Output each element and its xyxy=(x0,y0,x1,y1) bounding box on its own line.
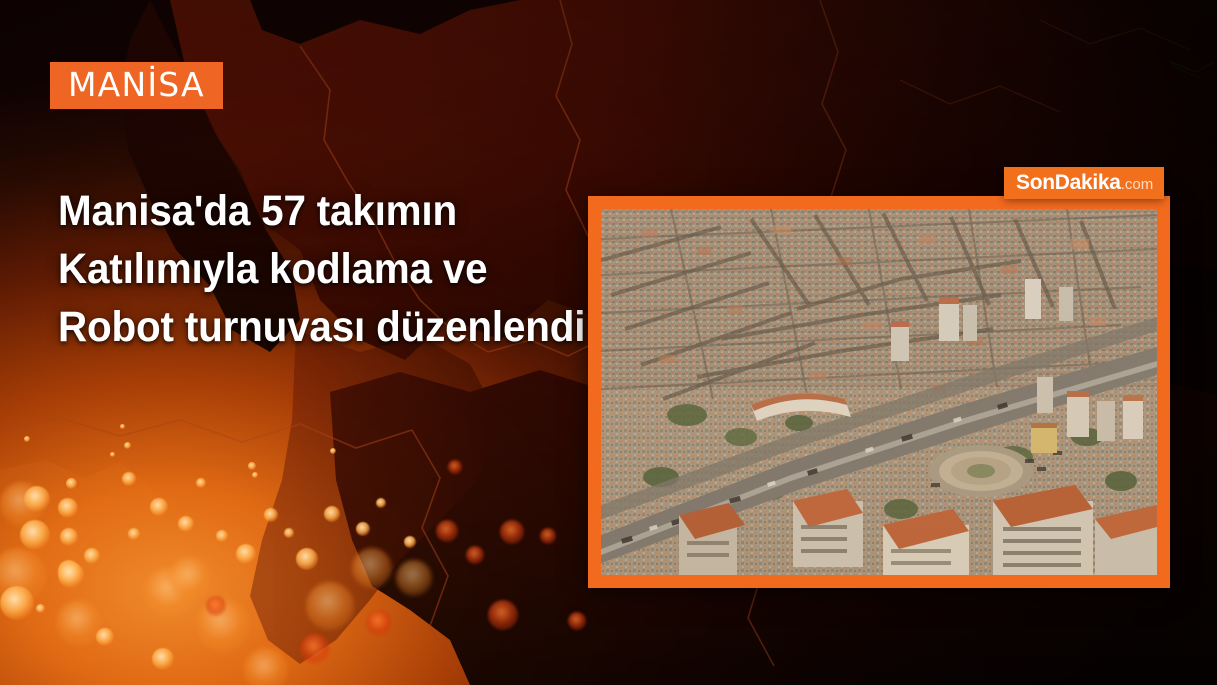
category-badge: MANİSA xyxy=(50,62,223,109)
headline-line-2: Katılımıyla kodlama ve xyxy=(58,240,584,298)
logo-brand: SonDakika xyxy=(1016,171,1121,194)
logo-suffix: .com xyxy=(1121,176,1154,193)
sondakika-logo[interactable]: SonDakika.com xyxy=(1004,167,1164,199)
headline: Manisa'da 57 takımın Katılımıyla kodlama… xyxy=(58,182,584,356)
news-photo xyxy=(601,209,1157,575)
headline-line-1: Manisa'da 57 takımın xyxy=(58,182,584,240)
headline-line-3: Robot turnuvası düzenlendi xyxy=(58,298,584,356)
news-photo-frame xyxy=(588,196,1170,588)
news-card: MANİSA Manisa'da 57 takımın Katılımıyla … xyxy=(0,0,1217,685)
